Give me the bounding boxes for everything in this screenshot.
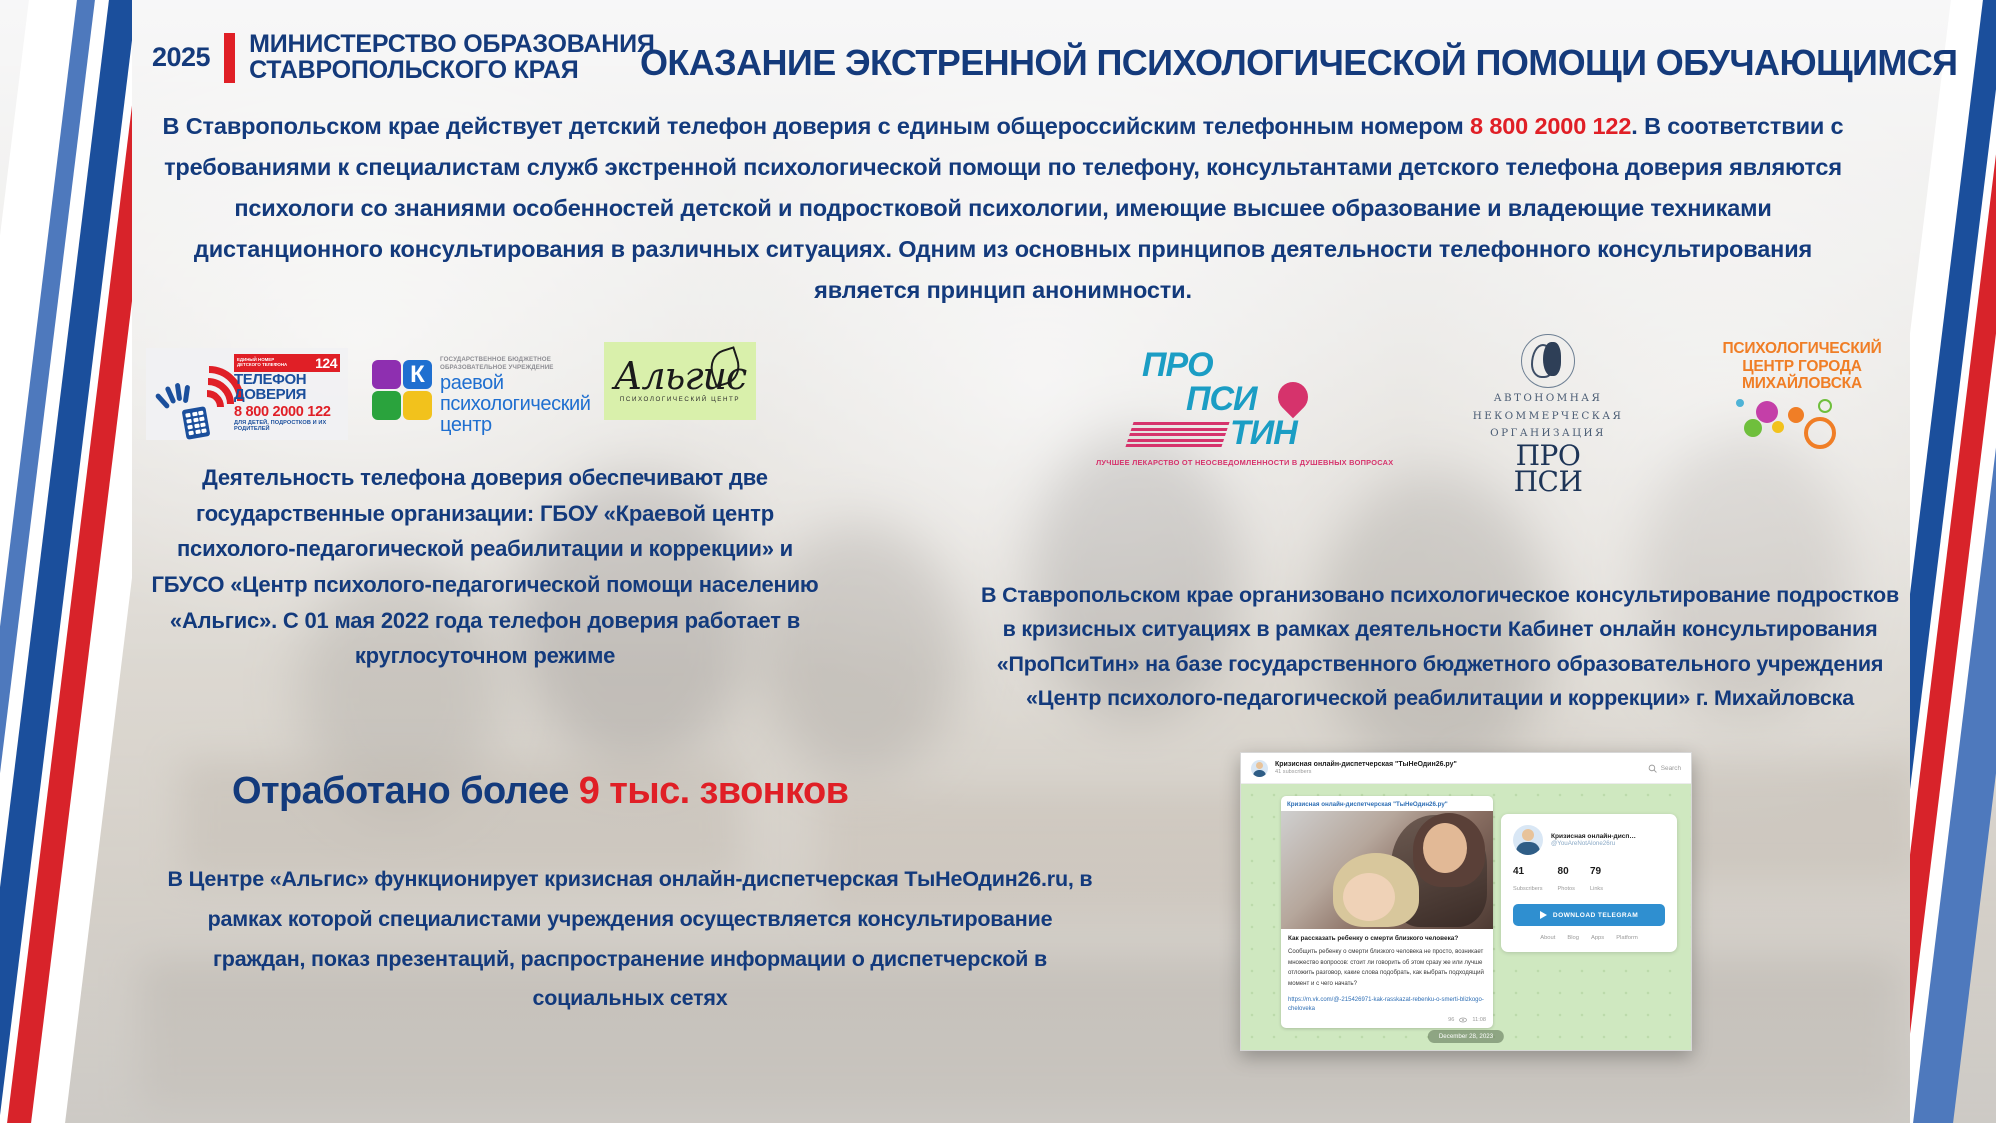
ano-line-1: АВТОНОМНАЯ [1448, 392, 1648, 406]
stat-photos-value: 80 [1558, 866, 1575, 877]
calls-number: 9 тыс. звонков [579, 770, 849, 812]
stat-subscribers: 41 Subscribers [1513, 866, 1543, 895]
stat-links-value: 79 [1590, 866, 1603, 877]
footer-link-platform[interactable]: Platform [1616, 935, 1638, 941]
trust-line-2: ДОВЕРИЯ [234, 387, 346, 402]
search-box[interactable]: Search [1648, 764, 1681, 773]
mih-line-1: ПСИХОЛОГИЧЕСКИЙ [1704, 340, 1900, 358]
ano-brand-2: ПСИ [1448, 470, 1648, 494]
footer-link-about[interactable]: About [1540, 935, 1555, 941]
channel-card-handle: @YouAreNotAlone26ru [1551, 840, 1636, 847]
algis-subtitle: ПСИХОЛОГИЧЕСКИЙ ЦЕНТР [620, 396, 740, 403]
ministry-line-1: МИНИСТЕРСТВО ОБРАЗОВАНИЯ [249, 32, 655, 58]
trust-line-1: ТЕЛЕФОН [234, 372, 346, 387]
bottom-description: В Центре «Альгис» функционирует кризисна… [160, 860, 1100, 1019]
eye-icon [1459, 1017, 1467, 1023]
ano-brand-1: ПРО [1448, 444, 1648, 468]
header: 2025 МИНИСТЕРСТВО ОБРАЗОВАНИЯ СТАВРОПОЛЬ… [152, 32, 655, 83]
slide-root: 2025 МИНИСТЕРСТВО ОБРАЗОВАНИЯ СТАВРОПОЛЬ… [0, 0, 1996, 1123]
telegram-header-bar: Кризисная онлайн-диспетчерская "ТыНеОдин… [1241, 753, 1691, 784]
download-telegram-label: DOWNLOAD TELEGRAM [1553, 912, 1638, 919]
red-divider-bar [224, 33, 235, 83]
ppt-stripes-icon [1126, 422, 1229, 444]
channel-avatar [1251, 760, 1268, 777]
stat-photos-label: Photos [1558, 886, 1575, 892]
search-icon [1648, 764, 1657, 773]
channel-card-name: Кризисная онлайн-дисп… [1551, 833, 1636, 840]
telegram-post[interactable]: Кризисная онлайн-диспетчерская "ТыНеОдин… [1281, 796, 1493, 1028]
logo-ano-propsi: АВТОНОМНАЯ НЕКОММЕРЧЕСКАЯ ОРГАНИЗАЦИЯ ПР… [1448, 334, 1648, 466]
hotline-number: 8 800 2000 122 [1470, 113, 1631, 139]
telegram-screenshot: Кризисная онлайн-диспетчерская "ТыНеОдин… [1240, 752, 1692, 1051]
ministry-name: МИНИСТЕРСТВО ОБРАЗОВАНИЯ СТАВРОПОЛЬСКОГО… [249, 32, 655, 83]
channel-info-card: Кризисная онлайн-дисп… @YouAreNotAlone26… [1501, 814, 1677, 952]
calls-headline: Отработано более 9 тыс. звонков [232, 770, 848, 813]
intro-paragraph: В Ставропольском крае действует детский … [150, 106, 1856, 310]
post-channel-label: Кризисная онлайн-диспетчерская "ТыНеОдин… [1281, 796, 1493, 811]
footer-links: About Blog Apps Platform [1513, 935, 1665, 941]
channel-name: Кризисная онлайн-диспетчерская "ТыНеОдин… [1275, 761, 1457, 770]
logo-algis: Альгис ПСИХОЛОГИЧЕСКИЙ ЦЕНТР [604, 342, 756, 420]
stat-subscribers-label: Subscribers [1513, 886, 1543, 892]
stat-photos: 80 Photos [1558, 866, 1575, 895]
calls-prefix: Отработано более [232, 770, 579, 812]
trust-badge-line-2: ДЕТСКОГО ТЕЛЕФОНА [237, 363, 287, 368]
kpc-line-3: центр [440, 415, 591, 436]
logo-mikhaylovsk-center: ПСИХОЛОГИЧЕСКИЙ ЦЕНТР ГОРОДА МИХАЙЛОВСКА [1704, 340, 1900, 460]
year-label: 2025 [152, 42, 210, 73]
ppt-drop-icon [1272, 376, 1314, 418]
logo-letter-k: К [403, 360, 432, 389]
trust-number-badge: ЕДИНЫЙ НОМЕР ДЕТСКОГО ТЕЛЕФОНА 124 [234, 354, 340, 372]
intro-before-phone: В Ставропольском крае действует детский … [163, 113, 1471, 139]
colored-dots-icon [1704, 397, 1900, 443]
channel-card-avatar [1513, 825, 1543, 855]
stat-subscribers-value: 41 [1513, 866, 1543, 877]
right-description: В Ставропольском крае организовано психо… [972, 578, 1908, 716]
ano-line-2: НЕКОММЕРЧЕСКАЯ [1448, 410, 1648, 424]
post-views: 96 [1448, 1017, 1454, 1023]
kpc-line-2: психологический [440, 394, 591, 415]
intro-after-phone: . [1631, 113, 1637, 139]
left-decor-frame [0, 0, 132, 1123]
post-time: 11:08 [1472, 1017, 1486, 1023]
ministry-line-2: СТАВРОПОЛЬСКОГО КРАЯ [249, 58, 655, 84]
channel-stats: 41 Subscribers 80 Photos 79 Links [1513, 866, 1665, 895]
search-placeholder: Search [1661, 765, 1681, 772]
post-meta: 96 11:08 [1281, 1016, 1493, 1028]
kpc-line-1: раевой [440, 373, 591, 394]
stat-links-label: Links [1590, 886, 1603, 892]
four-squares-icon: К [372, 360, 434, 422]
logo-propsiteen: ПРО ПСИ ТИН ЛУЧШЕЕ ЛЕКАРСТВО ОТ НЕОСВЕДО… [1120, 340, 1350, 462]
date-separator: December 28, 2023 [1428, 1030, 1504, 1043]
trust-badge-number: 124 [315, 355, 337, 371]
left-description: Деятельность телефона доверия обеспечива… [140, 460, 830, 674]
trust-audience: ДЛЯ ДЕТЕЙ, ПОДРОСТКОВ И ИХ РОДИТЕЛЕЙ [234, 420, 346, 432]
footer-link-blog[interactable]: Blog [1567, 935, 1579, 941]
kpc-small-line-1: ГОСУДАРСТВЕННОЕ БЮДЖЕТНОЕ [440, 356, 591, 364]
head-profile-icon [1521, 334, 1575, 388]
download-telegram-button[interactable]: DOWNLOAD TELEGRAM [1513, 904, 1665, 926]
footer-link-apps[interactable]: Apps [1591, 935, 1604, 941]
channel-subscribers: 41 subscribers [1275, 769, 1457, 775]
hand-phone-icon [160, 386, 204, 430]
paper-plane-icon [1540, 911, 1547, 919]
stat-links: 79 Links [1590, 866, 1603, 895]
telegram-body: Кризисная онлайн-диспетчерская "ТыНеОдин… [1241, 784, 1691, 1051]
post-image [1281, 811, 1493, 929]
mih-line-3: МИХАЙЛОВСКА [1704, 375, 1900, 393]
ppt-word-tin: ТИН [1230, 414, 1297, 453]
ppt-tagline: ЛУЧШЕЕ ЛЕКАРСТВО ОТ НЕОСВЕДОМЛЕННОСТИ В … [1096, 458, 1416, 467]
partner-logos-row: ЕДИНЫЙ НОМЕР ДЕТСКОГО ТЕЛЕФОНА 124 ТЕЛЕФ… [0, 336, 1996, 466]
post-text: Сообщить ребенку о смерти близкого челов… [1281, 944, 1493, 992]
post-link[interactable]: https://m.vk.com/@-215426971-kak-rasskaz… [1281, 992, 1493, 1016]
intro-rest: В соответствии с требованиями к специали… [164, 113, 1843, 303]
right-decor-frame [1910, 0, 1996, 1123]
post-title: Как рассказать ребенку о смерти близкого… [1281, 929, 1493, 944]
trust-phone-number: 8 800 2000 122 [234, 404, 346, 420]
logo-telephone-doveriya: ЕДИНЫЙ НОМЕР ДЕТСКОГО ТЕЛЕФОНА 124 ТЕЛЕФ… [146, 348, 348, 440]
page-title: ОКАЗАНИЕ ЭКСТРЕННОЙ ПСИХОЛОГИЧЕСКОЙ ПОМО… [640, 42, 1900, 84]
mih-line-2: ЦЕНТР ГОРОДА [1704, 358, 1900, 376]
logo-krai-psychological-center: К ГОСУДАРСТВЕННОЕ БЮДЖЕТНОЕ ОБРАЗОВАТЕЛЬ… [372, 346, 584, 432]
